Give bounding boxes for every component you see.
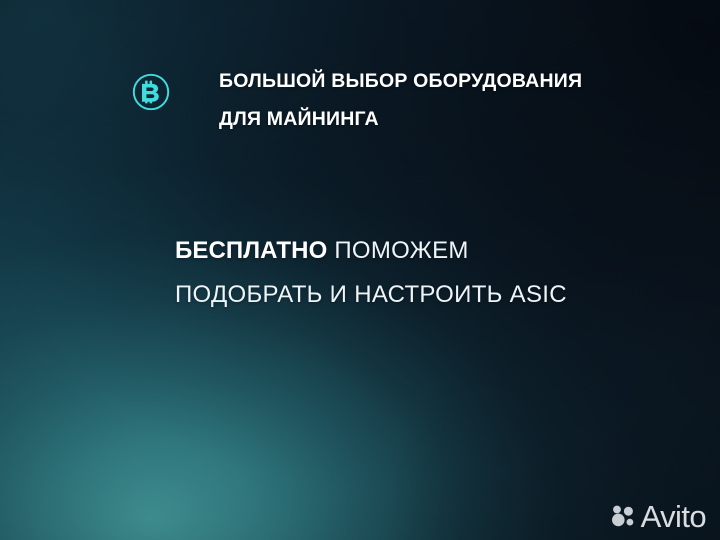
message-block: БЕСПЛАТНО ПОМОЖЕМ ПОДОБРАТЬ И НАСТРОИТЬ … bbox=[175, 229, 567, 317]
bitcoin-icon bbox=[131, 72, 171, 112]
heading-line-2: ДЛЯ МАЙНИНГА bbox=[175, 100, 582, 138]
heading-block: БОЛЬШОЙ ВЫБОР ОБОРУДОВАНИЯ ДЛЯ МАЙНИНГА bbox=[175, 62, 582, 138]
mining-promo-banner: БОЛЬШОЙ ВЫБОР ОБОРУДОВАНИЯ ДЛЯ МАЙНИНГА … bbox=[0, 0, 720, 540]
avito-logo-mark-icon bbox=[610, 503, 637, 530]
message-line-2: ПОДОБРАТЬ И НАСТРОИТЬ ASIC bbox=[175, 273, 567, 317]
avito-logo[interactable]: Avito bbox=[610, 501, 706, 532]
message-emphasis: БЕСПЛАТНО bbox=[175, 237, 327, 264]
avito-wordmark: Avito bbox=[641, 501, 706, 532]
banner-header: БОЛЬШОЙ ВЫБОР ОБОРУДОВАНИЯ ДЛЯ МАЙНИНГА bbox=[131, 62, 582, 138]
heading-line-1: БОЛЬШОЙ ВЫБОР ОБОРУДОВАНИЯ bbox=[175, 62, 582, 100]
message-line-1: БЕСПЛАТНО ПОМОЖЕМ bbox=[175, 229, 567, 273]
message-line-1-rest: ПОМОЖЕМ bbox=[327, 237, 468, 264]
